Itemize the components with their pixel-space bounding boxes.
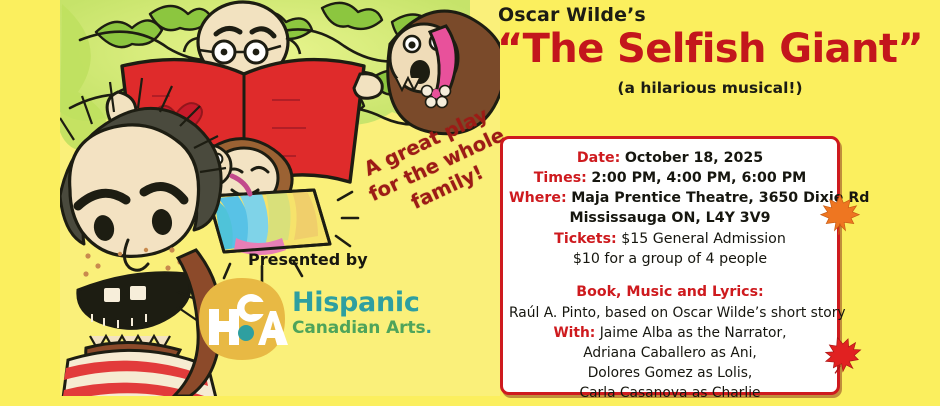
with-label: With:	[553, 325, 595, 341]
title-block: Oscar Wilde’s “The Selfish Giant” (a hil…	[486, 4, 934, 97]
detail-where-line2: Mississauga ON, L4Y 3V9	[509, 208, 831, 228]
detail-tickets-line2: $10 for a group of 4 people	[509, 249, 831, 269]
logo-org-sub: Canadian Arts.	[292, 320, 432, 337]
author-byline: Oscar Wilde’s	[498, 4, 934, 26]
detail-times-value: 2:00 PM, 4:00 PM, 6:00 PM	[591, 170, 806, 186]
logo-period: .	[426, 318, 432, 338]
detail-date-label: Date:	[577, 150, 620, 166]
page-title: “The Selfish Giant”	[486, 28, 934, 70]
credits-header: Book, Music and Lyrics:	[509, 282, 831, 303]
logo-wordmark: Hispanic Canadian Arts.	[292, 289, 432, 337]
maple-leaf-icon	[818, 192, 862, 236]
maple-leaf-icon	[822, 334, 864, 376]
detail-where: Where: Maja Prentice Theatre, 3650 Dixie…	[509, 188, 831, 208]
cast-line-3: Dolores Gomez as Lolis,	[509, 363, 831, 383]
cast-line-2: Adriana Caballero as Ani,	[509, 343, 831, 363]
detail-times-label: Times:	[534, 170, 587, 186]
logo-org-name: Hispanic	[292, 289, 432, 316]
detail-times: Times: 2:00 PM, 4:00 PM, 6:00 PM	[509, 168, 831, 188]
cast-line-4: Carla Casanova as Charlie	[509, 383, 831, 403]
detail-tickets: Tickets: $15 General Admission	[509, 229, 831, 249]
detail-tickets-label: Tickets:	[554, 231, 617, 247]
detail-date: Date: October 18, 2025	[509, 148, 831, 168]
cast-member-1: Jaime Alba as the Narrator,	[600, 325, 787, 341]
hispanic-canadian-arts-logo: Hispanic Canadian Arts.	[196, 275, 466, 365]
hca-logo-mark-icon	[196, 275, 288, 363]
subtitle: (a hilarious musical!)	[486, 79, 934, 97]
event-details-card: Date: October 18, 2025 Times: 2:00 PM, 4…	[500, 136, 840, 395]
credits-value: Raúl A. Pinto, based on Oscar Wilde’s sh…	[509, 303, 831, 323]
presented-by-label: Presented by	[248, 250, 368, 269]
poster-canvas: Oscar Wilde’s “The Selfish Giant” (a hil…	[0, 0, 940, 406]
detail-date-value: October 18, 2025	[625, 150, 763, 166]
logo-org-sub-text: Canadian Arts	[292, 318, 426, 338]
detail-tickets-value: $15 General Admission	[621, 231, 786, 247]
cast-line-1: With: Jaime Alba as the Narrator,	[509, 323, 831, 343]
detail-tickets-value2: $10 for a group of 4 people	[573, 251, 767, 267]
detail-where-value2: Mississauga ON, L4Y 3V9	[569, 210, 770, 226]
detail-where-label: Where:	[509, 190, 567, 206]
details-spacer	[509, 269, 831, 282]
